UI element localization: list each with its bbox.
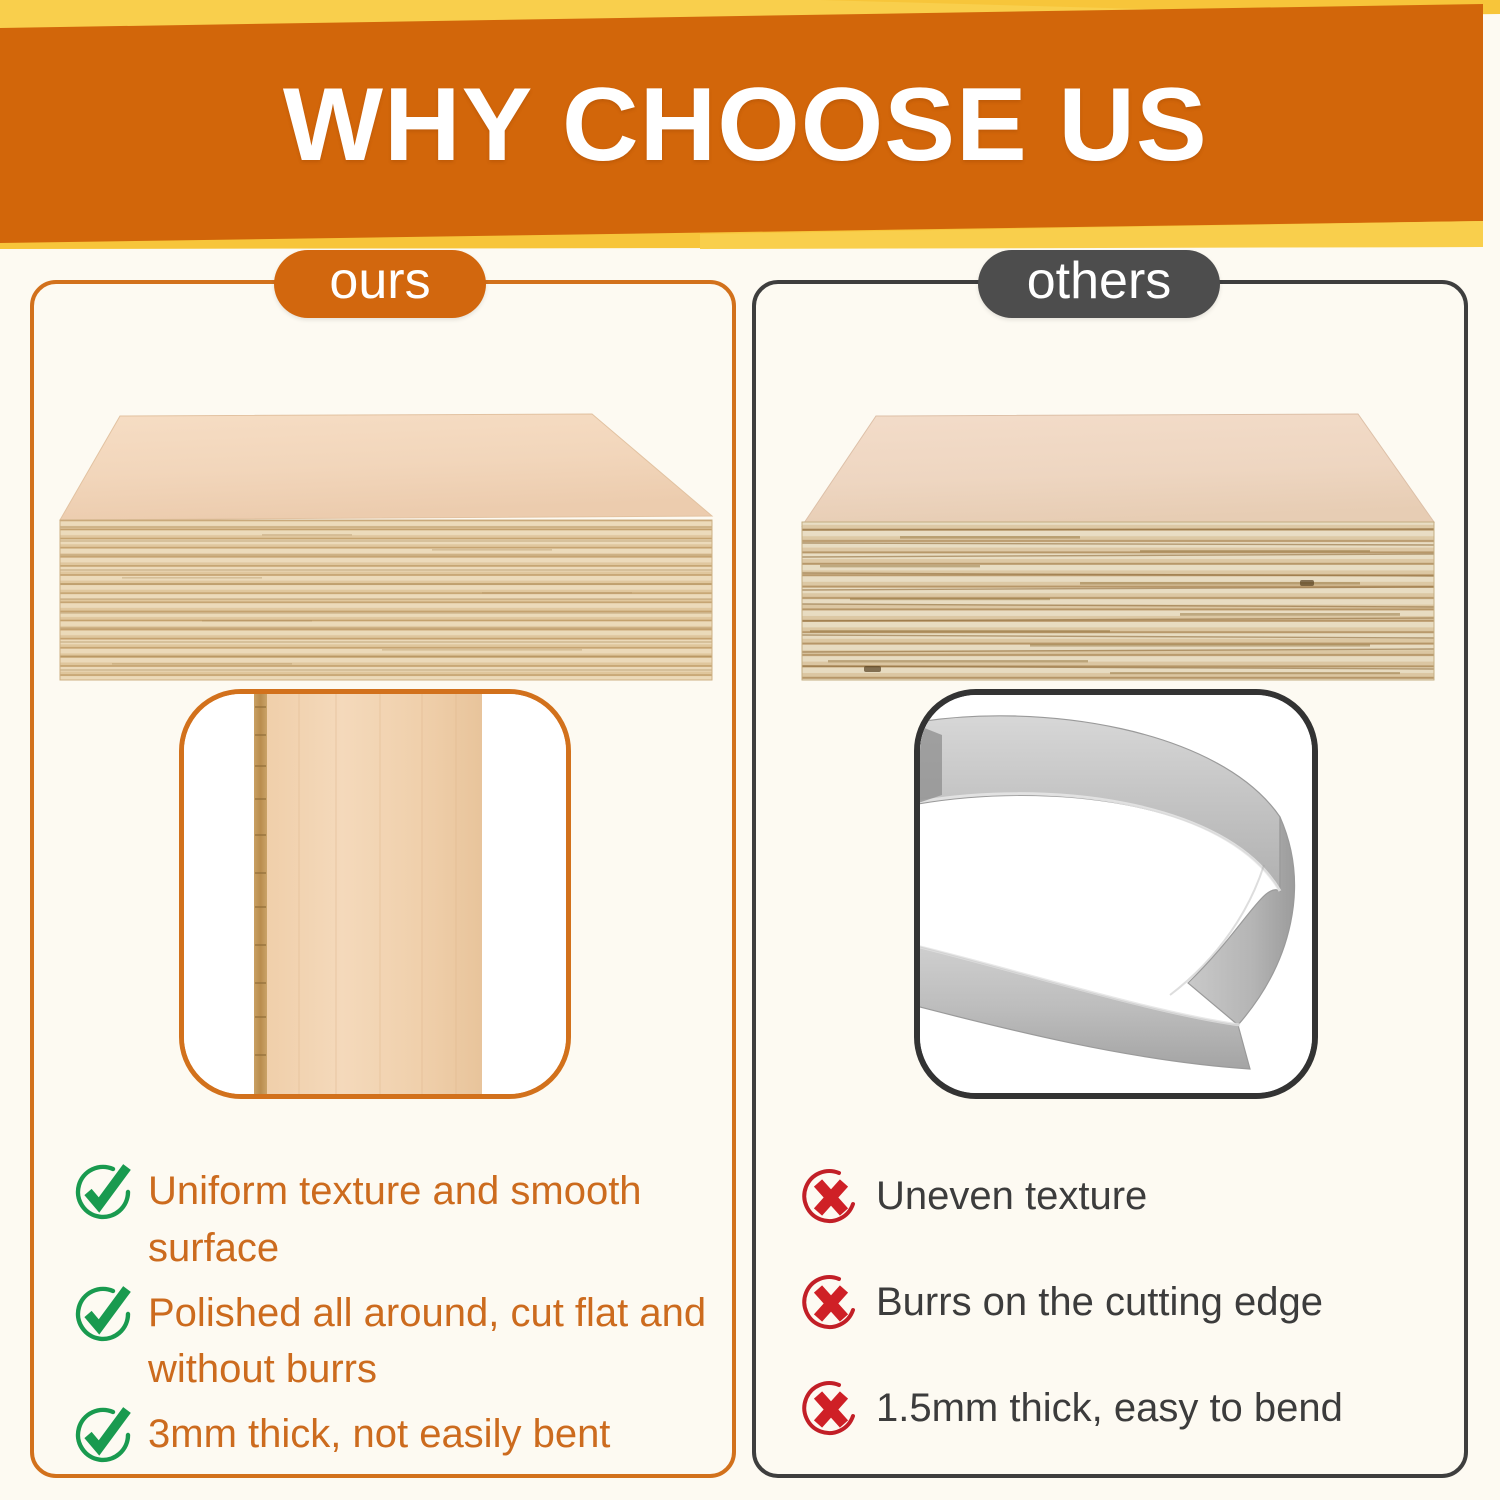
list-item: 1.5mm thick, easy to bend [800, 1376, 1450, 1440]
panel-others: others [752, 280, 1468, 1478]
banner-body [0, 4, 1483, 244]
list-item-label: Polished all around, cut flat and withou… [148, 1281, 712, 1399]
wood-edge-closeup [179, 689, 571, 1099]
x-circle-icon [800, 1272, 862, 1334]
list-item: 3mm thick, not easily bent [72, 1402, 712, 1466]
plywood-stack-uniform [52, 394, 720, 694]
stack-top-face [802, 414, 1434, 526]
check-circle-icon [72, 1161, 134, 1223]
bullet-list-ours: Uniform texture and smooth surface Polis… [72, 1159, 712, 1470]
list-item-label: 3mm thick, not easily bent [148, 1402, 610, 1463]
plywood-stack-uneven [780, 394, 1444, 694]
stack-top-face [60, 414, 712, 520]
bullet-list-others: Uneven texture Burrs on the cutting edge [800, 1164, 1450, 1482]
badge-ours: ours [274, 250, 486, 318]
list-item: Burrs on the cutting edge [800, 1270, 1450, 1334]
badge-others: others [978, 250, 1220, 318]
x-circle-icon [800, 1378, 862, 1440]
list-item: Polished all around, cut flat and withou… [72, 1281, 712, 1399]
header-banner [0, 0, 1500, 250]
bent-sheet-closeup [914, 689, 1318, 1099]
list-item: Uniform texture and smooth surface [72, 1159, 712, 1277]
list-item-label: 1.5mm thick, easy to bend [876, 1376, 1343, 1437]
panel-ours: ours [30, 280, 736, 1478]
check-circle-icon [72, 1404, 134, 1466]
list-item-label: Burrs on the cutting edge [876, 1270, 1323, 1331]
x-circle-icon [800, 1166, 862, 1228]
list-item-label: Uneven texture [876, 1164, 1147, 1225]
plank-edge-strip [254, 694, 267, 1094]
badge-ours-label: ours [329, 255, 430, 307]
list-item-label: Uniform texture and smooth surface [148, 1159, 712, 1277]
check-circle-icon [72, 1283, 134, 1345]
badge-others-label: others [1027, 255, 1172, 307]
list-item: Uneven texture [800, 1164, 1450, 1228]
